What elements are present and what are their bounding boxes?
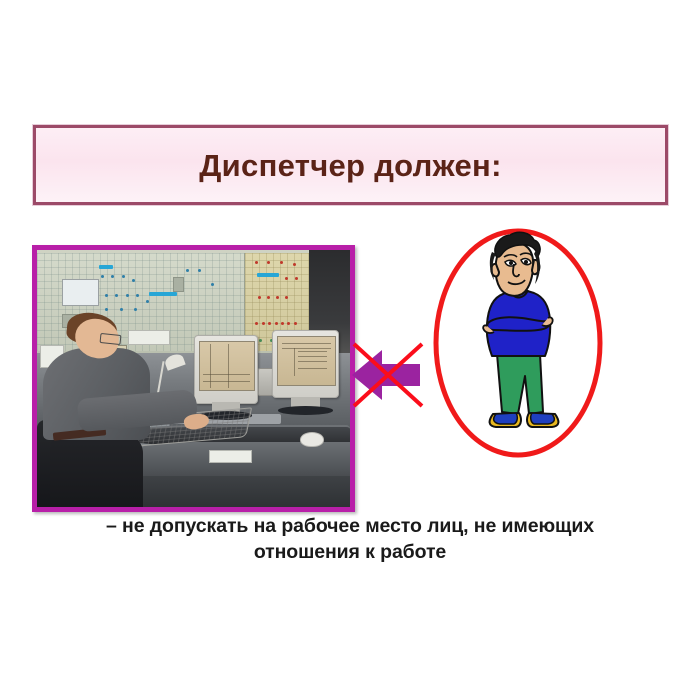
screen-window-titlebar (282, 343, 332, 344)
screen-window-line (294, 348, 295, 377)
screen-window-line (298, 351, 327, 352)
monitor-right-base (278, 406, 333, 415)
screen-diagram-line (203, 374, 250, 375)
panel-dot (276, 296, 279, 299)
crossed-out-arrow (352, 342, 426, 408)
panel-dot (132, 279, 135, 282)
panel-dot (285, 296, 288, 299)
unauthorized-person-graphic (430, 226, 610, 466)
panel-dot (281, 322, 284, 325)
panel-dot (111, 275, 114, 278)
indicator-bar (257, 273, 279, 277)
panel-dot (285, 277, 288, 280)
panel-dot (275, 322, 278, 325)
panel-dot (295, 277, 298, 280)
computer-mouse (300, 432, 324, 447)
desk-paper (128, 330, 171, 345)
screen-diagram-line (210, 344, 211, 388)
wall-square (173, 277, 183, 293)
panel-dot (267, 261, 270, 264)
panel-dot (126, 294, 129, 297)
panel-dot (293, 263, 296, 266)
panel-dot (294, 322, 297, 325)
panel-dot (120, 308, 123, 311)
panel-dot (262, 322, 265, 325)
screen-diagram-line (228, 344, 229, 388)
panel-dot (268, 322, 271, 325)
panel-dot (211, 283, 214, 286)
panel-dot (255, 322, 258, 325)
panel-dot (105, 294, 108, 297)
screen-window-line (298, 356, 327, 357)
panel-dot (134, 308, 137, 311)
panel-dot (146, 300, 149, 303)
dispatcher-photo (32, 245, 355, 512)
panel-dot (186, 269, 189, 272)
screen-window-line (298, 368, 327, 369)
desk-paper (209, 450, 252, 462)
operator-glasses (99, 332, 121, 344)
page-title: Диспетчер должен: (199, 150, 501, 181)
panel-dot (136, 294, 139, 297)
photo-content (37, 250, 350, 507)
panel-dot (115, 294, 118, 297)
figure-pupil-left (509, 261, 513, 265)
indicator-bar (99, 265, 113, 269)
title-banner: Диспетчер должен: (33, 125, 668, 205)
figure-pupil-right (524, 260, 528, 264)
panel-dot (258, 296, 261, 299)
panel-dot (122, 275, 125, 278)
figure-left-shoe (490, 413, 521, 427)
panel-dot (255, 261, 258, 264)
panel-dot (101, 275, 104, 278)
figure-pants (497, 354, 543, 414)
slide-caption: – не допускать на рабочее место лиц, не … (38, 514, 662, 565)
wall-placard (62, 279, 99, 306)
monitor-right (272, 330, 340, 399)
figure-right-shoe (527, 413, 558, 427)
caption-line-1: – не допускать на рабочее место лиц, не … (106, 515, 594, 537)
screen-window-line (298, 361, 327, 362)
slide-canvas: Диспетчер должен: (0, 0, 700, 700)
caption-line-2: отношения к работе (38, 540, 662, 566)
panel-dot (280, 261, 283, 264)
monitor-left-screen (199, 341, 255, 391)
panel-dot (267, 296, 270, 299)
panel-dot (287, 322, 290, 325)
monitor-right-screen (277, 336, 336, 386)
panel-dot (105, 308, 108, 311)
left-arrow-icon (352, 342, 426, 408)
cartoon-figure (483, 232, 558, 427)
screen-diagram-line (203, 381, 250, 382)
operator-legs (50, 430, 144, 507)
screen-window-line (282, 348, 332, 349)
monitor-left (194, 335, 259, 404)
panel-dot (259, 339, 262, 342)
indicator-bar (149, 292, 178, 296)
cartoon-person-in-oval (430, 226, 610, 466)
panel-dot (198, 269, 201, 272)
